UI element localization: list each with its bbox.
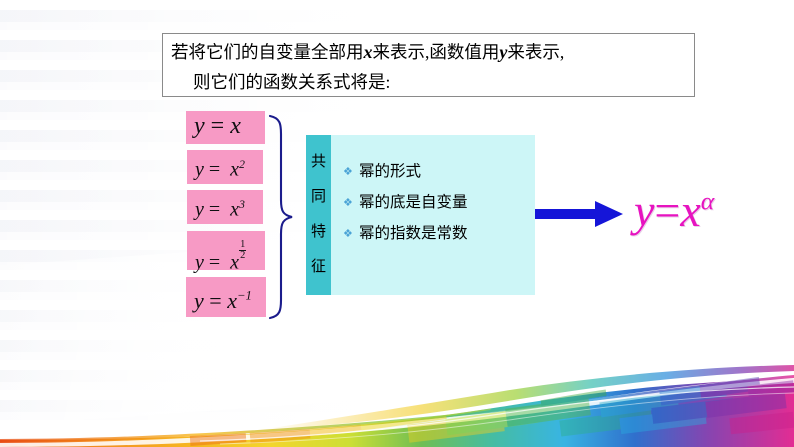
diamond-bullet-icon: ❖ bbox=[343, 162, 359, 182]
statement-line-2: 则它们的函数关系式将是: bbox=[171, 67, 688, 97]
statement-box: 若将它们的自变量全部用x来表示,函数值用y来表示, 则它们的函数关系式将是: bbox=[162, 33, 695, 97]
statement-line1-prefix: 若将它们的自变量全部用 bbox=[171, 42, 364, 62]
vertical-label-char-1: 共 bbox=[311, 155, 326, 170]
right-arrow-icon bbox=[535, 200, 623, 228]
bullet-item-3-text: 幂的指数是常数 bbox=[359, 224, 468, 244]
formula-box-3: y = x3 bbox=[187, 190, 263, 224]
formula-1-expression: y = x bbox=[194, 113, 241, 140]
formula-box-5: y = x−1 bbox=[186, 277, 266, 317]
vertical-label-char-3: 特 bbox=[311, 225, 326, 240]
statement-line-1: 若将它们的自变量全部用x来表示,函数值用y来表示, bbox=[171, 37, 688, 67]
formula-4-expression: y = x12 bbox=[195, 242, 246, 274]
diamond-bullet-icon: ❖ bbox=[343, 224, 359, 244]
vertical-label-char-4: 征 bbox=[311, 260, 326, 275]
formula-box-2: y = x2 bbox=[187, 150, 263, 184]
slide-canvas: 若将它们的自变量全部用x来表示,函数值用y来表示, 则它们的函数关系式将是: y… bbox=[0, 0, 794, 447]
formula-3-exponent: 3 bbox=[239, 198, 245, 211]
bullet-item-2: ❖ 幂的底是自变量 bbox=[343, 193, 533, 213]
vertical-label-common-characteristics: 共 同 特 征 bbox=[306, 135, 331, 295]
right-arrow-svg bbox=[535, 200, 623, 228]
formula-4-exponent-denominator: 2 bbox=[239, 251, 246, 262]
bullet-item-3: ❖ 幂的指数是常数 bbox=[343, 224, 533, 244]
rainbow-ribbon-svg bbox=[0, 357, 794, 447]
rainbow-ribbon-footer bbox=[0, 357, 794, 447]
statement-line1-mid: 来表示,函数值用 bbox=[373, 42, 500, 62]
formula-2-exponent: 2 bbox=[239, 158, 245, 171]
formula-5-expression: y = x−1 bbox=[194, 288, 252, 314]
bullet-item-1-text: 幂的形式 bbox=[359, 162, 421, 182]
vertical-label-char-2: 同 bbox=[311, 190, 326, 205]
statement-line1-suffix: 来表示, bbox=[507, 42, 564, 62]
characteristics-bullet-list: ❖ 幂的形式 ❖ 幂的底是自变量 ❖ 幂的指数是常数 bbox=[343, 162, 533, 255]
result-equals-sign: = bbox=[654, 185, 680, 236]
bullet-item-2-text: 幂的底是自变量 bbox=[359, 193, 468, 213]
formula-5-exponent: −1 bbox=[237, 289, 252, 303]
grouping-brace-svg bbox=[266, 112, 296, 322]
formula-box-4: y = x12 bbox=[187, 231, 265, 270]
characteristics-panel: ❖ 幂的形式 ❖ 幂的底是自变量 ❖ 幂的指数是常数 bbox=[331, 135, 535, 295]
formula-box-1: y = x bbox=[186, 111, 265, 144]
result-formula: y=xα bbox=[634, 188, 714, 234]
diamond-bullet-icon: ❖ bbox=[343, 193, 359, 213]
grouping-brace bbox=[266, 112, 296, 322]
bullet-item-1: ❖ 幂的形式 bbox=[343, 162, 533, 182]
statement-variable-x: x bbox=[364, 42, 373, 62]
formula-3-expression: y = x3 bbox=[195, 198, 245, 222]
formula-4-exponent-fraction: 12 bbox=[239, 240, 246, 262]
formula-2-expression: y = x2 bbox=[195, 158, 245, 182]
result-exponent-alpha: α bbox=[701, 187, 715, 216]
